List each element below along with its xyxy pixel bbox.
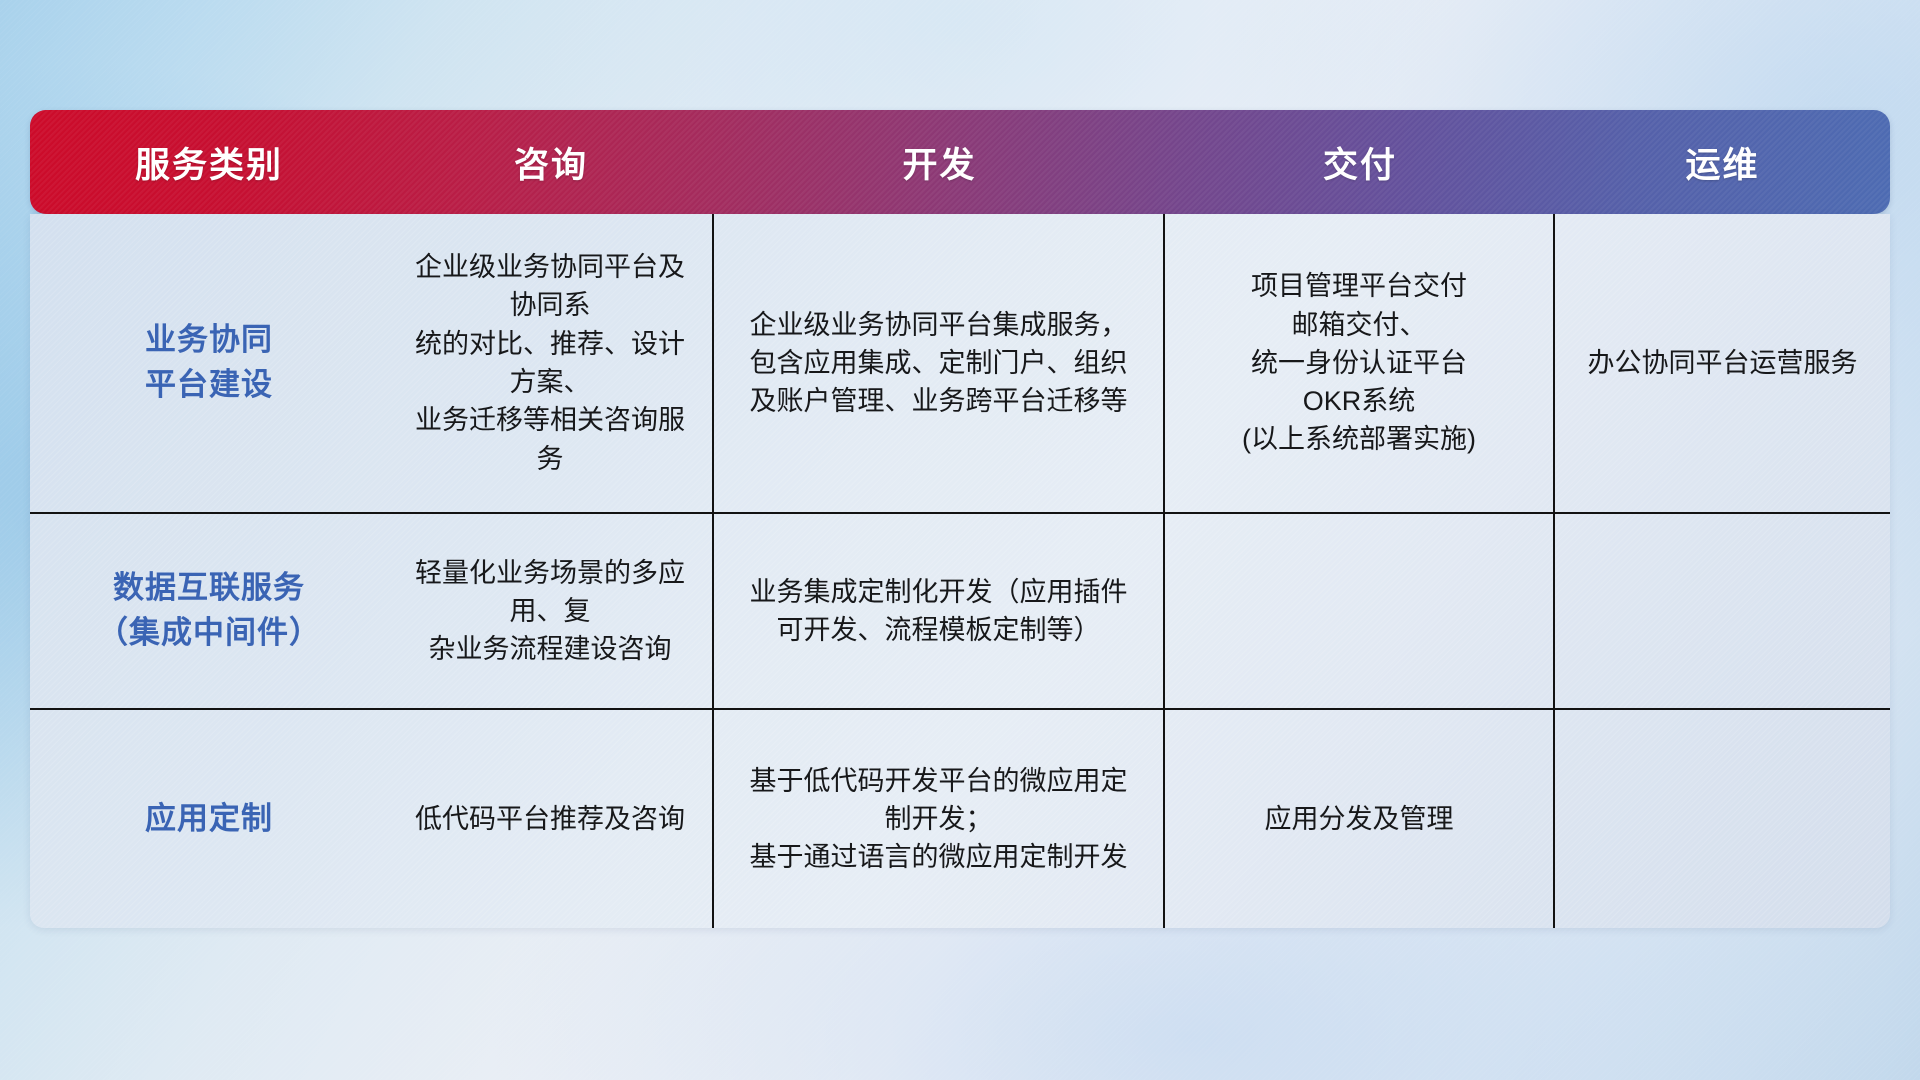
cell-operations [1555, 710, 1890, 928]
cell-development: 基于低代码开发平台的微应用定 制开发； 基于通过语言的微应用定制开发 [714, 710, 1165, 928]
table-body: 业务协同 平台建设 企业级业务协同平台及协同系 统的对比、推荐、设计方案、 业务… [30, 214, 1890, 928]
cell-development: 业务集成定制化开发（应用插件 可开发、流程模板定制等） [714, 514, 1165, 708]
cell-delivery [1165, 514, 1555, 708]
cell-operations: 办公协同平台运营服务 [1555, 214, 1890, 512]
column-header-label: 服务类别 [135, 137, 283, 188]
cell-category: 数据互联服务 （集成中间件） [30, 514, 388, 708]
cell-category: 业务协同 平台建设 [30, 214, 388, 512]
column-header-delivery: 交付 [1165, 110, 1555, 214]
cell-operations [1555, 514, 1890, 708]
cell-category: 应用定制 [30, 710, 388, 928]
column-header-label: 咨询 [514, 137, 588, 188]
cell-consulting: 低代码平台推荐及咨询 [388, 710, 714, 928]
slide-canvas: 服务类别 咨询 开发 交付 运维 业务协同 平台建设 企业级业务协同平台及协同系… [0, 0, 1920, 1080]
table-header-row: 服务类别 咨询 开发 交付 运维 [30, 110, 1890, 214]
cell-delivery: 项目管理平台交付 邮箱交付、 统一身份认证平台 OKR系统 (以上系统部署实施) [1165, 214, 1555, 512]
table-row: 数据互联服务 （集成中间件） 轻量化业务场景的多应用、复 杂业务流程建设咨询 业… [30, 514, 1890, 710]
cell-development: 企业级业务协同平台集成服务， 包含应用集成、定制门户、组织 及账户管理、业务跨平… [714, 214, 1165, 512]
table-row: 业务协同 平台建设 企业级业务协同平台及协同系 统的对比、推荐、设计方案、 业务… [30, 214, 1890, 514]
column-header-operations: 运维 [1555, 110, 1890, 214]
table-row: 应用定制 低代码平台推荐及咨询 基于低代码开发平台的微应用定 制开发； 基于通过… [30, 710, 1890, 928]
column-header-development: 开发 [714, 110, 1165, 214]
cell-consulting: 企业级业务协同平台及协同系 统的对比、推荐、设计方案、 业务迁移等相关咨询服务 [388, 214, 714, 512]
column-header-label: 开发 [902, 137, 976, 188]
cell-consulting: 轻量化业务场景的多应用、复 杂业务流程建设咨询 [388, 514, 714, 708]
service-matrix-table: 服务类别 咨询 开发 交付 运维 业务协同 平台建设 企业级业务协同平台及协同系… [30, 110, 1890, 928]
column-header-label: 运维 [1685, 137, 1759, 188]
cell-delivery: 应用分发及管理 [1165, 710, 1555, 928]
column-header-consulting: 咨询 [388, 110, 714, 214]
column-header-service-category: 服务类别 [30, 110, 388, 214]
column-header-label: 交付 [1323, 137, 1397, 188]
